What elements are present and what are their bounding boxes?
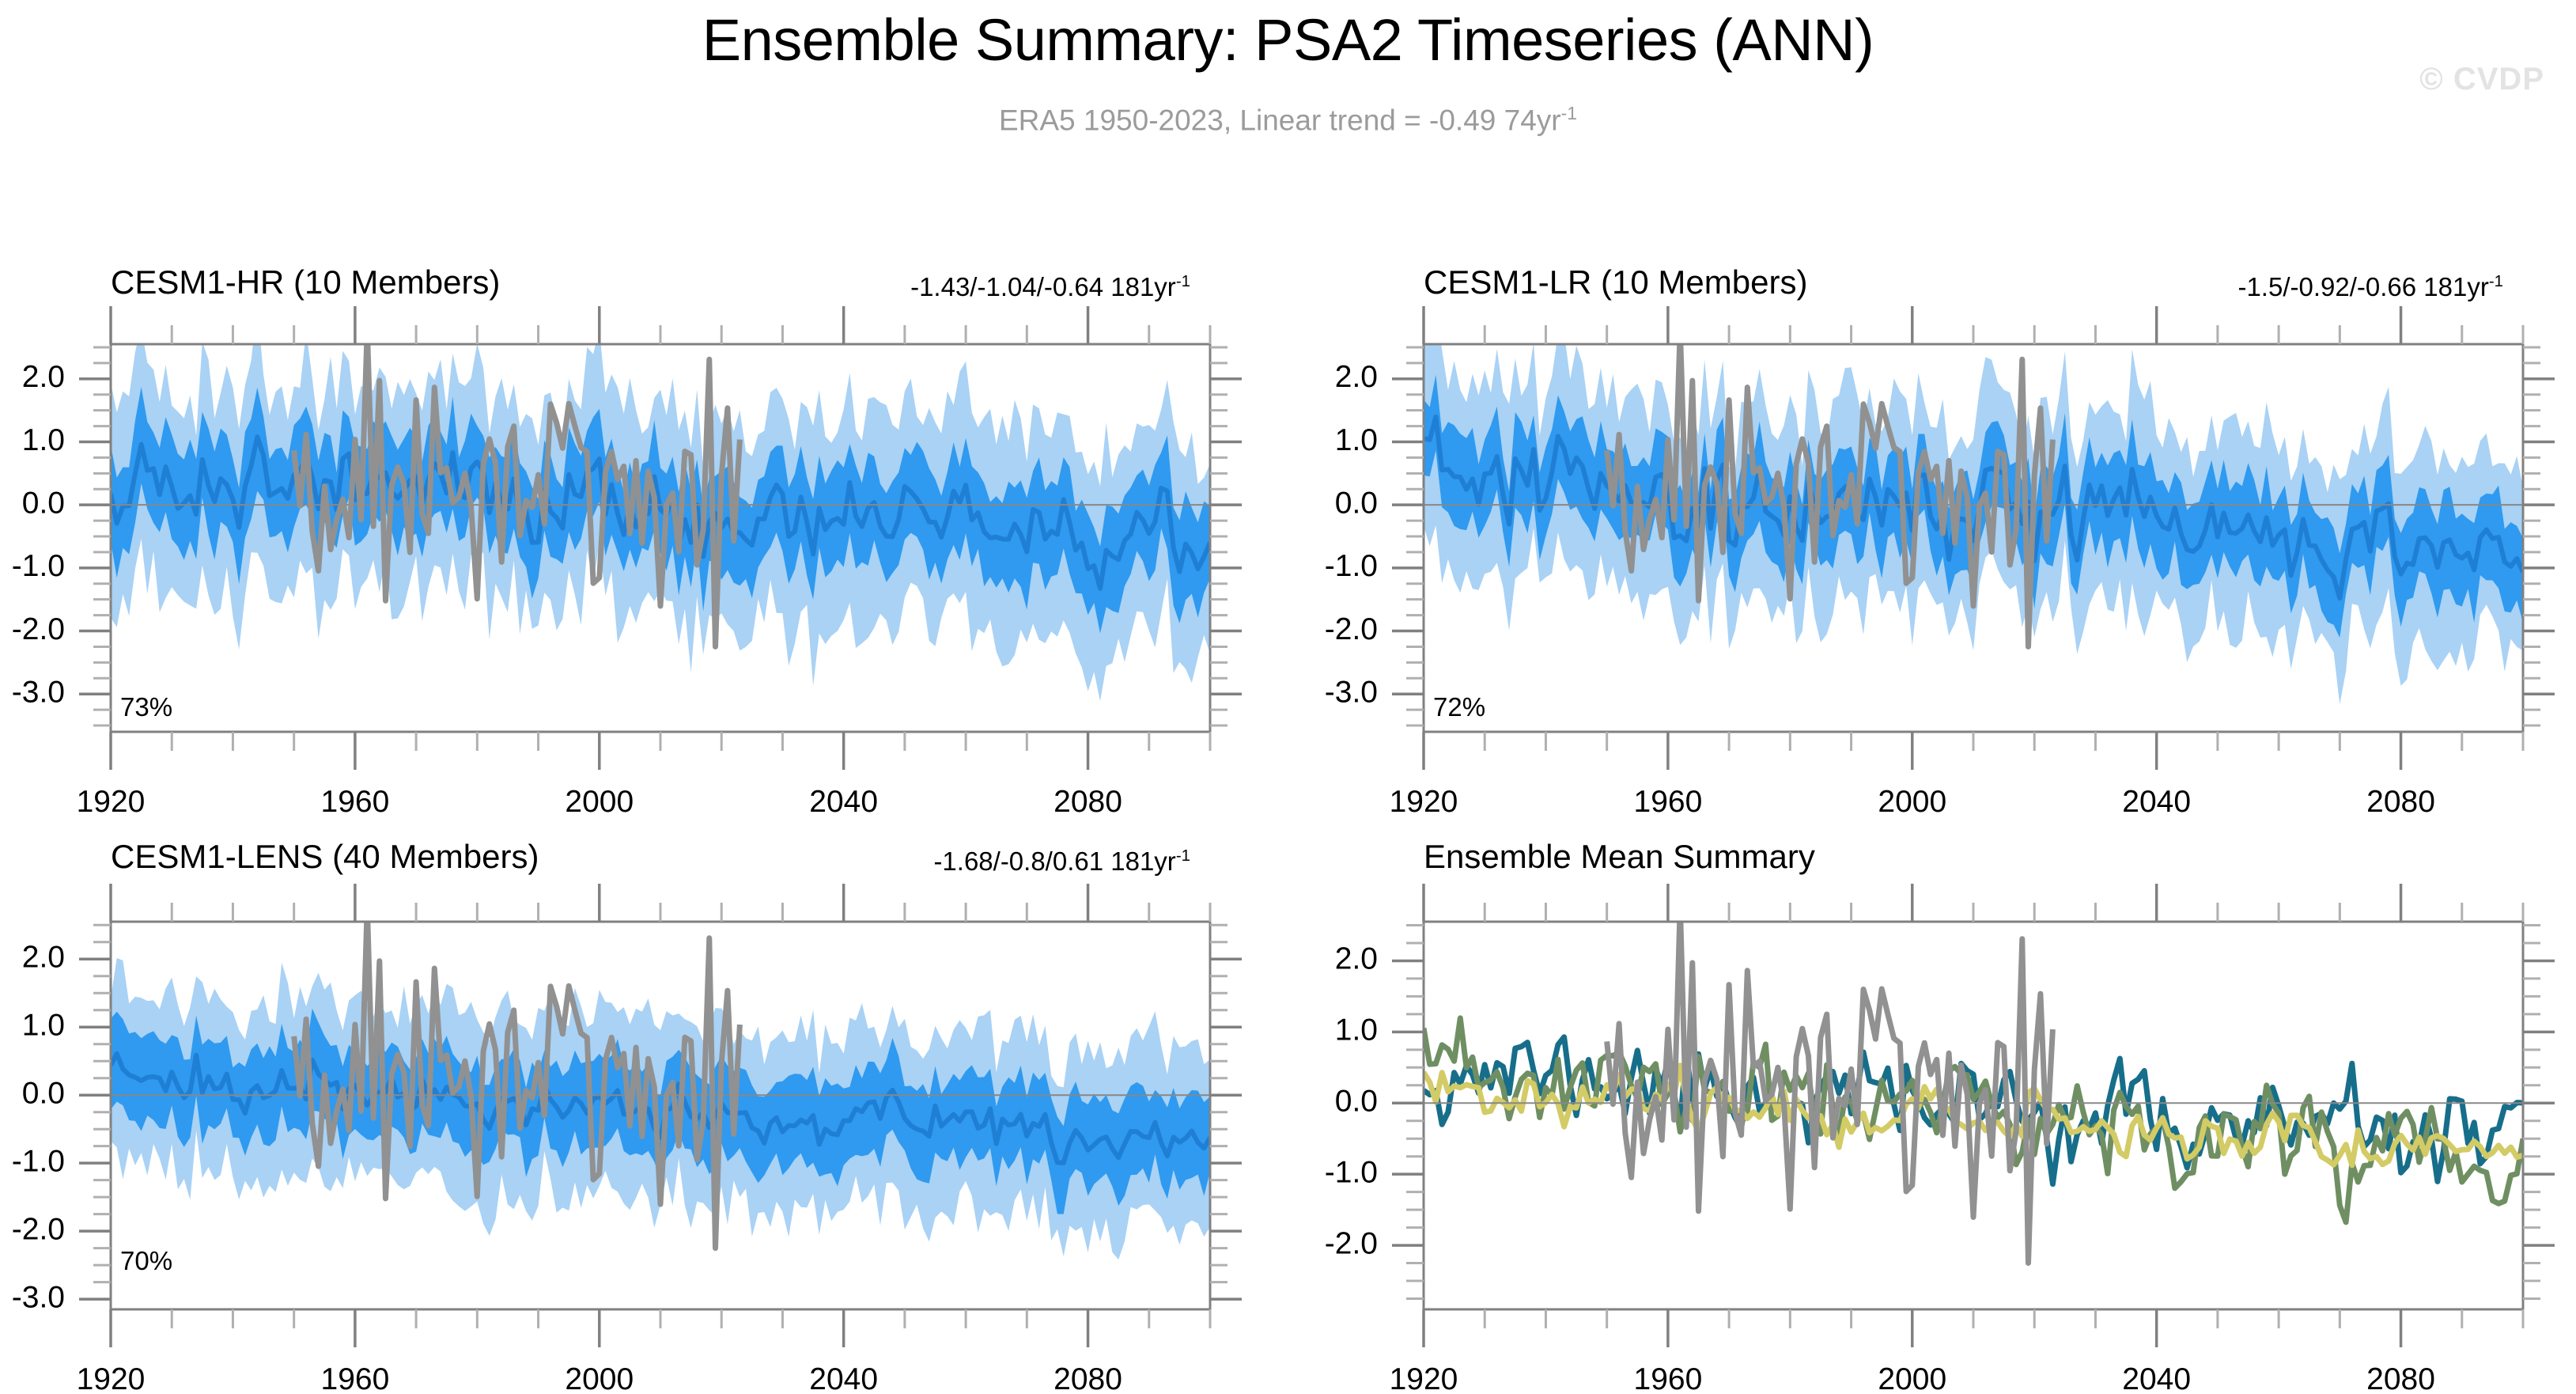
plot-area-ensemble-mean-summary: 2.01.00.0-1.0-2.019201960200020402080 (1313, 839, 2576, 1392)
y-tick-label: 1.0 (1335, 423, 1378, 457)
x-tick-label: 2000 (565, 785, 634, 815)
y-tick-label: -3.0 (12, 675, 65, 709)
page-subtitle-exponent: -1 (1561, 103, 1577, 123)
page-subtitle-text: ERA5 1950-2023, Linear trend = -0.49 74y… (999, 104, 1561, 136)
x-tick-label: 2080 (2366, 785, 2435, 815)
pct-label-cesm1-lens: 70% (120, 1246, 172, 1276)
figure-root: Ensemble Summary: PSA2 Timeseries (ANN) … (0, 0, 2576, 1394)
plot-area-cesm1-hr: 2.01.00.0-1.0-2.0-3.01920196020002040208… (0, 261, 1265, 815)
x-tick-label: 2080 (1053, 785, 1122, 815)
y-tick-label: 0.0 (1335, 1085, 1378, 1119)
x-tick-label: 1960 (1634, 1362, 1703, 1392)
panel-trend-text: -1.43/-1.04/-0.64 181yr (910, 272, 1176, 301)
y-tick-label: -2.0 (1325, 612, 1378, 646)
y-tick-label: 0.0 (22, 486, 65, 520)
x-tick-label: 1920 (77, 1362, 146, 1392)
page-title: Ensemble Summary: PSA2 Timeseries (ANN) (0, 6, 2576, 74)
y-tick-label: -3.0 (1325, 675, 1378, 709)
y-tick-label: -2.0 (12, 612, 65, 646)
x-tick-label: 2080 (2366, 1362, 2435, 1392)
y-tick-label: 2.0 (1335, 942, 1378, 976)
y-tick-label: 0.0 (22, 1077, 65, 1111)
x-tick-label: 1960 (321, 1362, 390, 1392)
x-tick-label: 2040 (2122, 1362, 2191, 1392)
y-tick-label: 0.0 (1335, 486, 1378, 520)
x-tick-label: 2000 (1878, 1362, 1946, 1392)
panel-trend-cesm1-lens: -1.68/-0.8/0.61 181yr-1 (933, 848, 1190, 874)
pct-label-cesm1-hr: 73% (120, 692, 172, 722)
y-tick-label: -3.0 (12, 1280, 65, 1314)
y-tick-label: -2.0 (1325, 1226, 1378, 1260)
y-tick-label: -1.0 (1325, 1155, 1378, 1189)
y-tick-label: 2.0 (1335, 360, 1378, 394)
y-tick-label: -2.0 (12, 1212, 65, 1246)
panel-title-cesm1-lens: CESM1-LENS (40 Members) (111, 840, 539, 873)
panel-cesm1-hr: CESM1-HR (10 Members) -1.43/-1.04/-0.64 … (0, 261, 1265, 815)
panel-trend-exponent: -1 (2489, 272, 2503, 290)
y-tick-label: 2.0 (22, 360, 65, 394)
x-tick-label: 1960 (321, 785, 390, 815)
x-tick-label: 1960 (1634, 785, 1703, 815)
panel-trend-text: -1.68/-0.8/0.61 181yr (933, 847, 1175, 876)
pct-label-cesm1-lr: 72% (1433, 692, 1485, 722)
panel-cesm1-lens: CESM1-LENS (40 Members) -1.68/-0.8/0.61 … (0, 839, 1265, 1392)
panel-trend-exponent: -1 (1176, 272, 1190, 290)
x-tick-label: 1920 (1390, 1362, 1458, 1392)
panel-title-ensemble-mean-summary: Ensemble Mean Summary (1424, 840, 1815, 873)
x-tick-label: 2040 (2122, 785, 2191, 815)
y-tick-label: -1.0 (1325, 549, 1378, 583)
panel-trend-text: -1.5/-0.92/-0.66 181yr (2237, 272, 2488, 301)
y-tick-label: 1.0 (1335, 1013, 1378, 1047)
page-subtitle: ERA5 1950-2023, Linear trend = -0.49 74y… (0, 103, 2576, 137)
y-tick-label: 1.0 (22, 1009, 65, 1043)
y-tick-label: -1.0 (12, 549, 65, 583)
panel-title-cesm1-lr: CESM1-LR (10 Members) (1424, 266, 1807, 299)
y-tick-label: -1.0 (12, 1144, 65, 1178)
panel-trend-exponent: -1 (1176, 847, 1190, 865)
x-tick-label: 2080 (1053, 1362, 1122, 1392)
plot-area-cesm1-lens: 2.01.00.0-1.0-2.0-3.01920196020002040208… (0, 839, 1265, 1392)
panel-ensemble-mean-summary: Ensemble Mean Summary 2.01.00.0-1.0-2.01… (1313, 839, 2576, 1392)
y-tick-label: 1.0 (22, 423, 65, 457)
x-tick-label: 2040 (809, 1362, 878, 1392)
x-tick-label: 2000 (1878, 785, 1946, 815)
x-tick-label: 1920 (1390, 785, 1458, 815)
cvdp-watermark: © CVDP (2419, 62, 2544, 97)
x-tick-label: 1920 (77, 785, 146, 815)
panel-cesm1-lr: CESM1-LR (10 Members) -1.5/-0.92/-0.66 1… (1313, 261, 2576, 815)
x-tick-label: 2000 (565, 1362, 634, 1392)
x-tick-label: 2040 (809, 785, 878, 815)
y-tick-label: 2.0 (22, 941, 65, 975)
plot-area-cesm1-lr: 2.01.00.0-1.0-2.0-3.01920196020002040208… (1313, 261, 2576, 815)
panel-trend-cesm1-lr: -1.5/-0.92/-0.66 181yr-1 (2237, 274, 2503, 300)
panel-trend-cesm1-hr: -1.43/-1.04/-0.64 181yr-1 (910, 274, 1190, 300)
panel-title-cesm1-hr: CESM1-HR (10 Members) (111, 266, 500, 299)
